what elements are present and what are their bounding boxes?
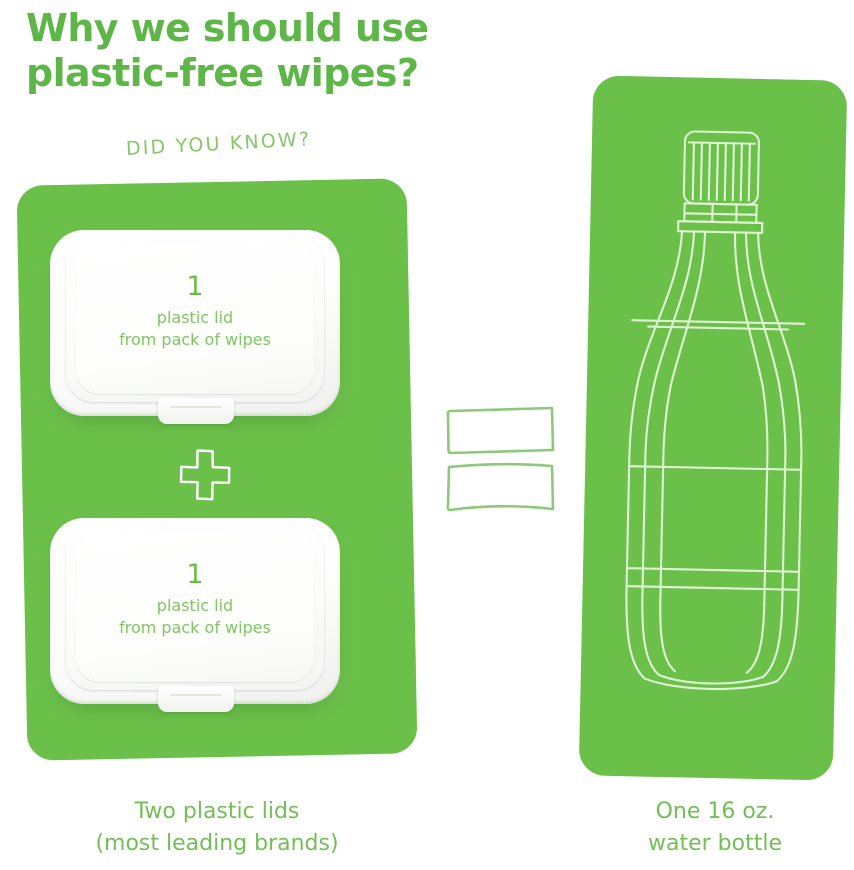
wipes-pack-hinge-notch-right	[242, 232, 266, 244]
wipes-pack-1-count: 1	[50, 272, 340, 302]
left-caption: Two plastic lids (most leading brands)	[27, 796, 407, 860]
wipes-pack-latch-tab	[158, 398, 234, 424]
wipes-pack-2-count: 1	[50, 560, 340, 590]
wipes-pack-hinge-notch-left	[124, 232, 148, 244]
title-line-1: Why we should use	[26, 6, 429, 50]
title-line-2: plastic-free wipes?	[26, 51, 496, 96]
wipes-pack-latch-grip-line	[170, 694, 222, 696]
right-caption: One 16 oz. water bottle	[588, 796, 842, 860]
wipes-pack-1: 1 plastic lid from pack of wipes	[50, 230, 340, 420]
wipes-pack-latch-grip-line	[170, 406, 222, 408]
infographic-page: Why we should use plastic-free wipes? DI…	[0, 0, 854, 870]
wipes-pack-1-line-1: plastic lid	[50, 307, 340, 330]
wipes-pack-2-line-2: from pack of wipes	[50, 617, 340, 640]
water-bottle-icon	[591, 94, 841, 759]
wipes-pack-2-line-1: plastic lid	[50, 595, 340, 618]
did-you-know-label: DID YOU KNOW?	[125, 128, 311, 160]
equals-icon	[442, 404, 560, 514]
wipes-pack-2: 1 plastic lid from pack of wipes	[50, 518, 340, 708]
right-caption-line-2: water bottle	[588, 828, 842, 860]
left-caption-line-2: (most leading brands)	[27, 828, 407, 860]
page-title: Why we should use plastic-free wipes?	[26, 6, 496, 96]
wipes-pack-latch-tab	[158, 686, 234, 712]
plus-icon	[178, 448, 232, 502]
left-caption-line-1: Two plastic lids	[27, 796, 407, 828]
wipes-pack-hinge-notch-left	[124, 520, 148, 532]
wipes-pack-1-line-2: from pack of wipes	[50, 329, 340, 352]
wipes-pack-1-label: 1 plastic lid from pack of wipes	[50, 272, 340, 352]
wipes-pack-2-label: 1 plastic lid from pack of wipes	[50, 560, 340, 640]
right-caption-line-1: One 16 oz.	[588, 796, 842, 828]
wipes-pack-hinge-notch-right	[242, 520, 266, 532]
